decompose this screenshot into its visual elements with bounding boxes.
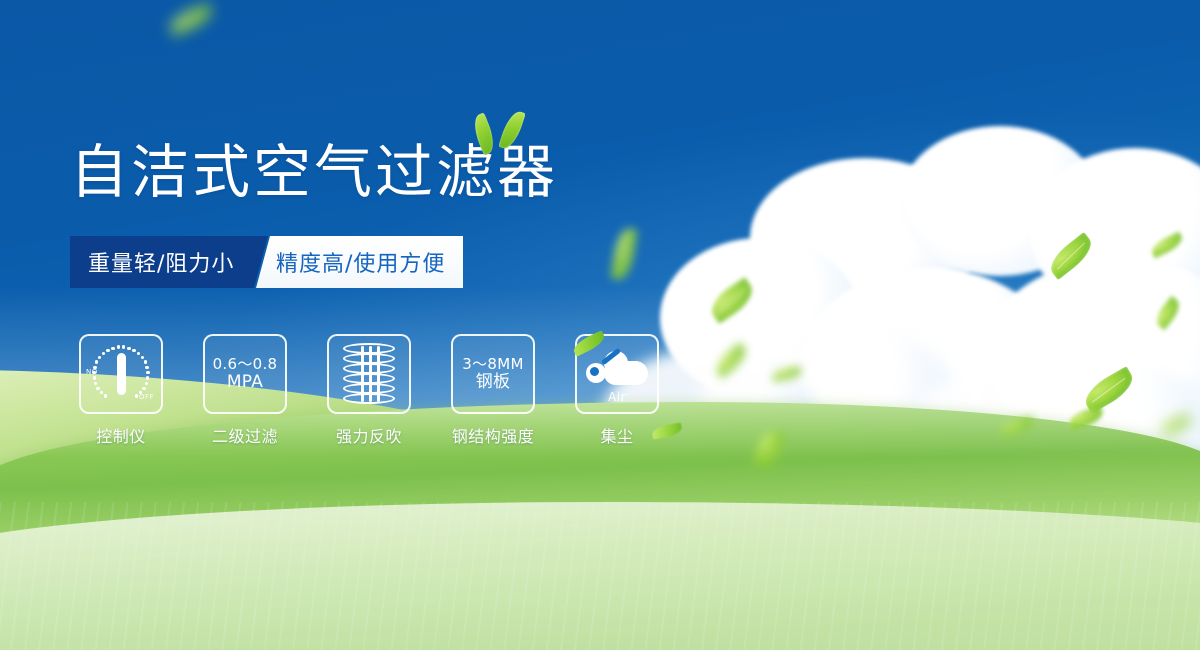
gauge-tick-icon [127,347,130,350]
gauge-tick-icon [132,349,135,352]
steel-plate-text: 钢板 [476,373,511,392]
gauge-tick-icon [145,382,148,385]
gauge-tick-icon [137,352,140,355]
gauge-tick-icon [106,349,109,352]
gauge-tick-icon [141,356,144,359]
feature-item-steel-structure[interactable]: 3～8MM 钢板 钢结构强度 [446,334,540,447]
gauge-tick-icon [98,356,101,359]
feature-label: 强力反吹 [336,423,402,447]
feature-item-dust-collection[interactable]: Air 集尘 [570,334,664,447]
gauge-icon: NO OFF [86,341,156,407]
product-banner: 自洁式空气过滤器 重量轻/阻力小 精度高/使用方便 NO OFF 控制仪 0.6… [0,0,1200,650]
gauge-tick-icon [135,394,138,397]
gauge-tick-icon [96,387,99,390]
cloud-air-icon: Air [584,347,650,401]
gauge-tick-icon [144,360,147,363]
feature-label: 钢结构强度 [452,423,535,447]
feature-item-two-stage-filter[interactable]: 0.6～0.8 MPA 二级过滤 [198,334,292,447]
title-block: 自洁式空气过滤器 [70,140,558,205]
gauge-tick-icon [94,382,97,385]
feature-icon-box [327,334,411,414]
gauge-off-label: OFF [139,393,154,401]
feature-item-controller[interactable]: NO OFF 控制仪 [74,334,168,447]
feature-icon-box: 0.6～0.8 MPA [203,334,287,414]
gauge-tick-icon [146,376,149,379]
field-path [0,502,1200,650]
feature-label: 控制仪 [96,423,146,447]
air-label: Air [584,390,650,404]
gauge-tick-icon [142,387,145,390]
pressure-range-text: 0.6～0.8 [213,356,278,373]
feature-item-strong-backflush[interactable]: 强力反吹 [322,334,416,447]
sprout-leaves-icon [470,108,540,154]
feature-icon-box: Air [575,334,659,414]
gauge-tick-icon [146,371,149,374]
feature-label: 集尘 [600,423,633,447]
gauge-tick-icon [95,360,98,363]
gauge-tick-icon [117,345,120,348]
subtitle-bar: 重量轻/阻力小 精度高/使用方便 [70,236,463,288]
path-streaks [0,502,1200,650]
gauge-tick-icon [104,394,107,397]
gauge-tick-icon [122,345,125,348]
subtitle-right: 精度高/使用方便 [252,236,463,288]
gauge-tick-icon [93,376,96,379]
feature-label: 二级过滤 [212,423,278,447]
subtitle-left: 重量轻/阻力小 [70,236,268,288]
gauge-tick-icon [100,391,103,394]
steel-thickness-text: 3～8MM [462,356,523,373]
feature-icon-box: NO OFF [79,334,163,414]
gauge-needle-icon [117,353,126,395]
gauge-tick-icon [145,366,148,369]
feature-list: NO OFF 控制仪 0.6～0.8 MPA 二级过滤 [74,334,664,447]
pressure-unit-text: MPA [227,373,263,392]
gauge-tick-icon [102,352,105,355]
filter-coil-icon [343,343,395,405]
leaf-icon [571,330,607,357]
gauge-tick-icon [111,347,114,350]
gauge-on-label: NO [86,368,98,376]
feature-icon-box: 3～8MM 钢板 [451,334,535,414]
